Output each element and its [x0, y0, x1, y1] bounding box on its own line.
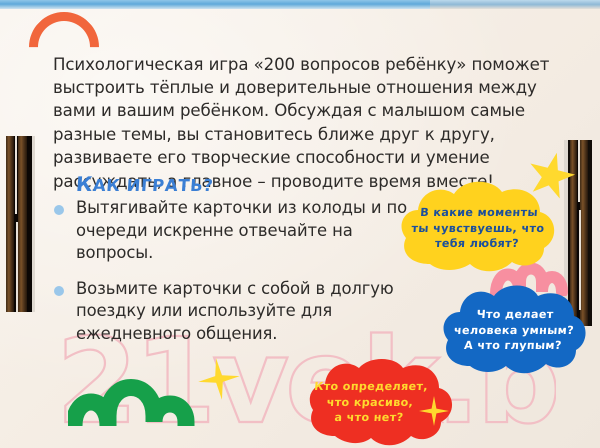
left-edge-highlight: [32, 136, 35, 312]
green-squiggle-decoration: [68, 372, 200, 430]
left-box-edge-wood: [6, 136, 32, 312]
box-top-blue-edge-right: [430, 0, 600, 9]
list-item: Вытягивайте карточки из колоды и по очер…: [54, 197, 414, 265]
heading-rest: АК ИГРАТЬ?: [92, 176, 214, 195]
how-to-play-list: Вытягивайте карточки из колоды и по очер…: [54, 197, 414, 359]
cloud-text-yellow: В какие моменты ты чувствуешь, что тебя …: [394, 205, 561, 252]
product-box-back-photo: 21vek.by Психологическая игра «200 вопро…: [0, 0, 600, 448]
question-cloud-yellow: В какие моменты ты чувствуешь, что тебя …: [396, 178, 560, 274]
bullet-dot-icon: [54, 205, 64, 215]
list-item-text: Вытягивайте карточки из колоды и по очер…: [76, 197, 414, 265]
question-cloud-red: Кто определяет, что красиво, а что нет?: [305, 356, 457, 448]
bullet-dot-icon: [54, 286, 64, 296]
question-cloud-blue: Что делает человека умным? А что глупым?: [438, 282, 590, 378]
list-item-text: Возьмите карточки с собой в долгую поезд…: [76, 278, 414, 346]
cloud-text-blue: Что делает человека умным? А что глупым?: [436, 307, 591, 354]
heading-capital: К: [75, 172, 94, 196]
list-item: Возьмите карточки с собой в долгую поезд…: [54, 278, 414, 346]
how-to-play-heading: КАК ИГРАТЬ?: [75, 172, 214, 196]
